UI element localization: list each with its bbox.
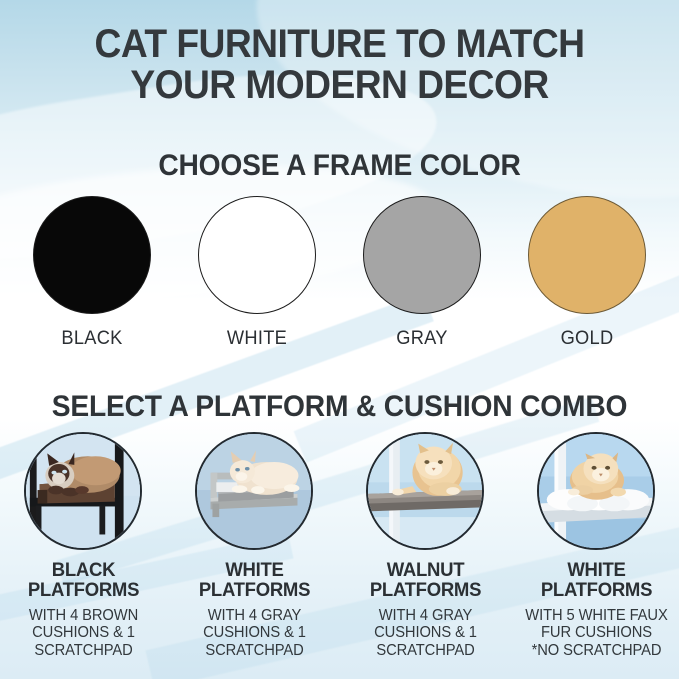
swatch-circle-gold[interactable] bbox=[528, 196, 646, 314]
combo-desc-line-3: SCRATCHPAD bbox=[348, 642, 503, 660]
swatch-option-white[interactable]: WHITE bbox=[197, 196, 317, 350]
photo-ginger-cat-walnut-platform[interactable] bbox=[366, 432, 484, 550]
combo-desc-white-platforms: WITH 4 GRAY CUSHIONS & 1 SCRATCHPAD bbox=[177, 607, 332, 660]
photo-golden-cat-faux-fur-cushion[interactable] bbox=[537, 432, 655, 550]
combo-section-title: SELECT A PLATFORM & CUSHION COMBO bbox=[20, 390, 658, 424]
product-infographic: CAT FURNITURE TO MATCH YOUR MODERN DECOR… bbox=[0, 0, 679, 679]
combo-desc-line-1: WITH 5 WHITE FAUX bbox=[519, 607, 674, 625]
combo-name-line-2: PLATFORMS bbox=[177, 581, 332, 601]
combo-desc-line-3: SCRATCHPAD bbox=[6, 642, 161, 660]
swatch-label-white: WHITE bbox=[199, 328, 314, 350]
swatch-circle-black[interactable] bbox=[33, 196, 151, 314]
combo-name-white-platforms-faux-fur: WHITE PLATFORMS bbox=[519, 561, 674, 601]
page-title-line-1: CAT FURNITURE TO MATCH bbox=[24, 24, 655, 65]
combo-desc-line-2: CUSHIONS & 1 bbox=[348, 624, 503, 642]
combo-name-line-1: WHITE bbox=[177, 561, 332, 581]
page-title: CAT FURNITURE TO MATCH YOUR MODERN DECOR bbox=[24, 24, 655, 106]
combo-name-line-2: PLATFORMS bbox=[519, 581, 674, 601]
combo-name-walnut-platforms: WALNUT PLATFORMS bbox=[348, 561, 503, 601]
combo-name-line-1: WALNUT bbox=[348, 561, 503, 581]
swatch-label-black: BLACK bbox=[34, 328, 149, 350]
frame-color-section-title: CHOOSE A FRAME COLOR bbox=[20, 149, 658, 183]
combo-desc-line-2: FUR CUSHIONS bbox=[519, 624, 674, 642]
combo-name-black-platforms: BLACK PLATFORMS bbox=[6, 561, 161, 601]
combo-desc-line-3: *NO SCRATCHPAD bbox=[519, 642, 674, 660]
swatch-option-black[interactable]: BLACK bbox=[32, 196, 152, 350]
combo-name-line-1: WHITE bbox=[519, 561, 674, 581]
combo-desc-walnut-platforms: WITH 4 GRAY CUSHIONS & 1 SCRATCHPAD bbox=[348, 607, 503, 660]
combo-desc-white-platforms-faux-fur: WITH 5 WHITE FAUX FUR CUSHIONS *NO SCRAT… bbox=[519, 607, 674, 660]
frame-color-swatch-row: BLACK WHITE GRAY GOLD bbox=[0, 196, 679, 350]
swatch-label-gray: GRAY bbox=[364, 328, 479, 350]
combo-desc-line-1: WITH 4 GRAY bbox=[348, 607, 503, 625]
combo-desc-line-2: CUSHIONS & 1 bbox=[177, 624, 332, 642]
combo-option-walnut-platforms[interactable]: WALNUT PLATFORMS WITH 4 GRAY CUSHIONS & … bbox=[344, 432, 507, 659]
combo-desc-line-1: WITH 4 BROWN bbox=[6, 607, 161, 625]
combo-option-white-platforms-gray-cushions[interactable]: WHITE PLATFORMS WITH 4 GRAY CUSHIONS & 1… bbox=[173, 432, 336, 659]
combo-name-line-2: PLATFORMS bbox=[348, 581, 503, 601]
combo-desc-line-2: CUSHIONS & 1 bbox=[6, 624, 161, 642]
photo-cream-cat-white-platform[interactable] bbox=[195, 432, 313, 550]
combo-name-white-platforms: WHITE PLATFORMS bbox=[177, 561, 332, 601]
page-title-line-2: YOUR MODERN DECOR bbox=[24, 65, 655, 106]
swatch-option-gray[interactable]: GRAY bbox=[362, 196, 482, 350]
combo-option-black-platforms[interactable]: BLACK PLATFORMS WITH 4 BROWN CUSHIONS & … bbox=[2, 432, 165, 659]
combo-name-line-2: PLATFORMS bbox=[6, 581, 161, 601]
swatch-circle-white[interactable] bbox=[198, 196, 316, 314]
combo-desc-black-platforms: WITH 4 BROWN CUSHIONS & 1 SCRATCHPAD bbox=[6, 607, 161, 660]
swatch-option-gold[interactable]: GOLD bbox=[527, 196, 647, 350]
combo-desc-line-1: WITH 4 GRAY bbox=[177, 607, 332, 625]
combo-option-white-platforms-faux-fur[interactable]: WHITE PLATFORMS WITH 5 WHITE FAUX FUR CU… bbox=[515, 432, 678, 659]
swatch-circle-gray[interactable] bbox=[363, 196, 481, 314]
platform-cushion-combo-row: BLACK PLATFORMS WITH 4 BROWN CUSHIONS & … bbox=[0, 432, 679, 659]
photo-siamese-cat-black-platform[interactable] bbox=[24, 432, 142, 550]
swatch-label-gold: GOLD bbox=[529, 328, 644, 350]
combo-desc-line-3: SCRATCHPAD bbox=[177, 642, 332, 660]
combo-name-line-1: BLACK bbox=[6, 561, 161, 581]
